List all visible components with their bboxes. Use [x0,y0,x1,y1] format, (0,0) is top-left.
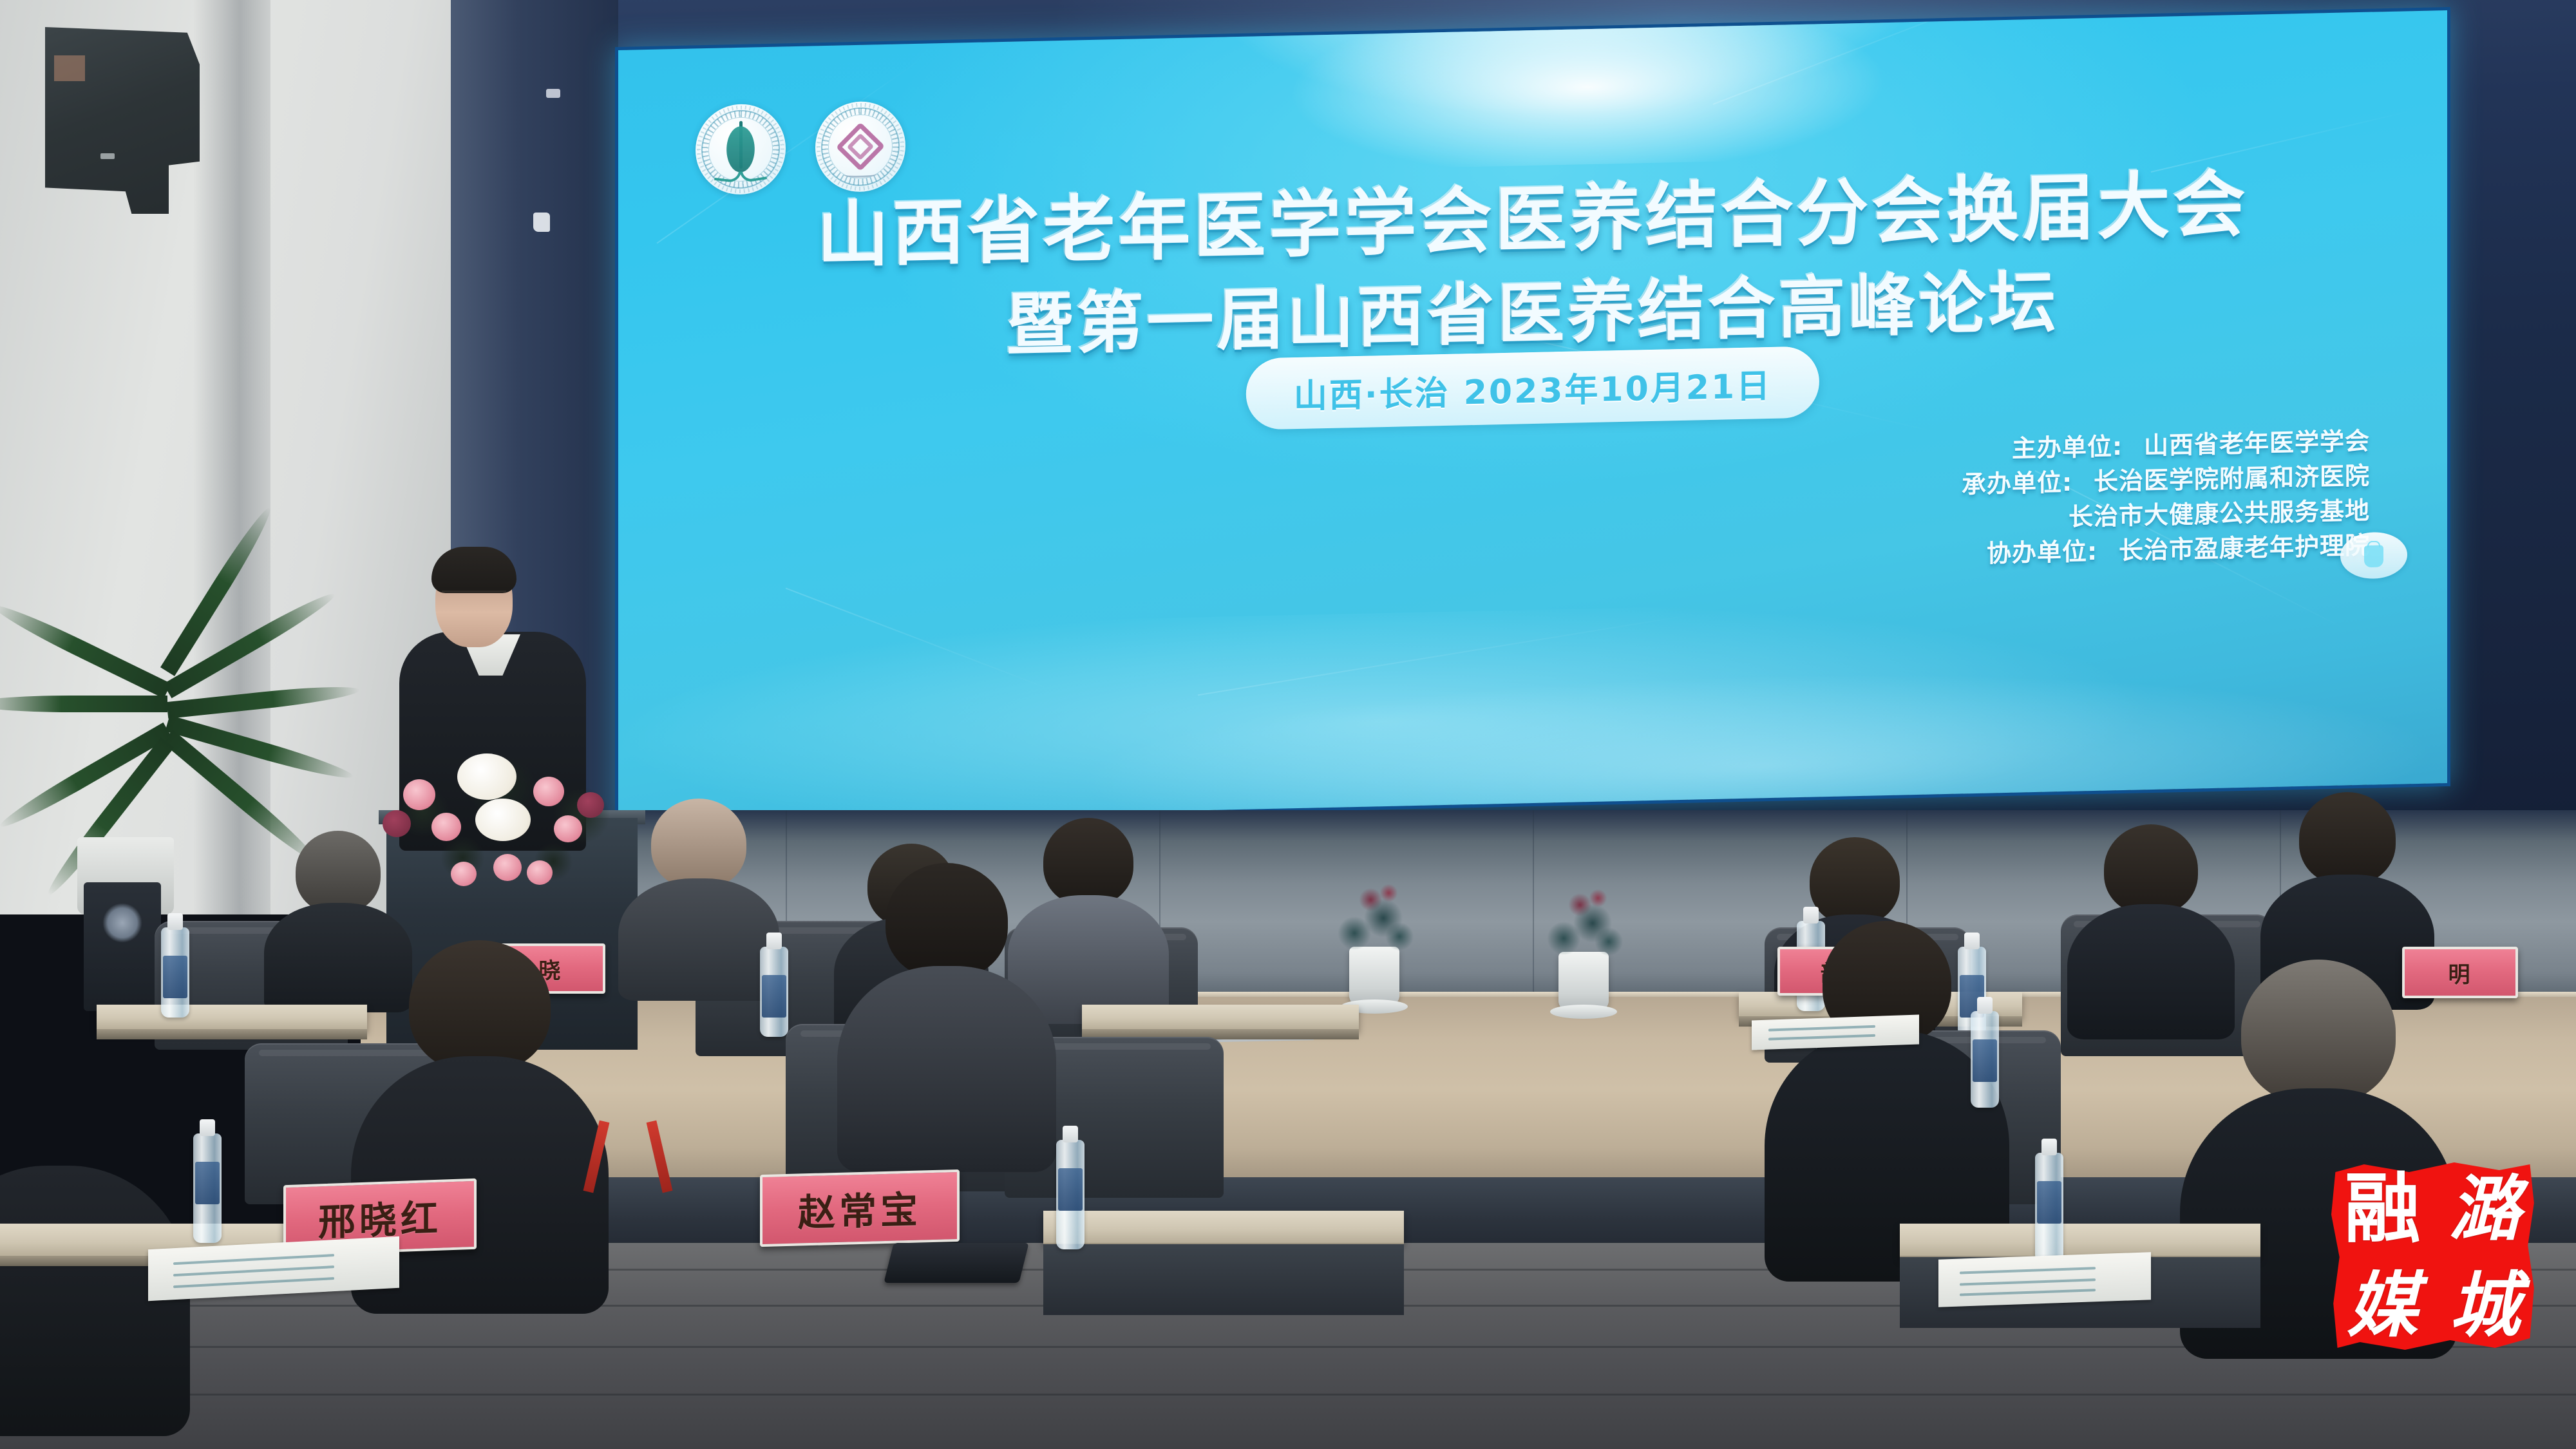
water-bottle [2035,1153,2063,1262]
organizer-label: 主办单位: [2012,429,2144,466]
handout-papers [1938,1252,2151,1307]
audience-person [277,831,399,998]
water-bottle [193,1133,222,1243]
lanyard [580,1121,676,1198]
organizer-value: 长治医学院附属和济医院 [2094,459,2370,500]
organizer-label [1937,526,2069,528]
audience-desk-front [1043,1244,1404,1315]
audience-person [863,863,1030,1133]
nameplate-text: 赵常宝 [798,1179,922,1236]
audience-person [1024,818,1153,1005]
seal-char: 融 [2344,1171,2420,1247]
seal-char: 媒 [2347,1270,2418,1341]
audience-person [2087,824,2215,1018]
screen-badge-icon [2340,531,2407,579]
changzhi-medical-college-heji-hospital-emblem [815,100,905,193]
audience-person [2280,792,2415,985]
seal-char: 城 [2450,1270,2521,1341]
rongmei-lucheng-watermark-seal: 融 潞 媒 城 [2331,1160,2536,1354]
handout-papers [1752,1014,1919,1050]
water-bottle [161,927,189,1018]
water-bottle [760,947,788,1037]
audience-desk [1043,1211,1404,1244]
decor-vase [84,882,161,1011]
organizer-label: 协办单位: [1987,534,2119,571]
nameplate-zhao-changbao: 赵常宝 [760,1170,960,1247]
organizer-label: 承办单位: [1962,465,2094,502]
shanxi-geriatrics-society-emblem [696,103,786,195]
audience-desk [1900,1224,2260,1257]
organizer-value: 山西省老年医学学会 [2144,424,2370,464]
stage-potted-plant [1558,952,1609,1011]
led-screen: 山西省老年医学学会医养结合分会换届大会 暨第一届山西省医养结合高峰论坛 山西·长… [618,10,2447,823]
screen-title-block: 山西省老年医学学会医养结合分会换届大会 暨第一届山西省医养结合高峰论坛 [618,162,2447,369]
water-bottle [1971,1011,1999,1108]
conference-hall-photo: 山西省老年医学学会医养结合分会换届大会 暨第一届山西省医养结合高峰论坛 山西·长… [0,0,2576,1449]
water-bottle [1056,1140,1084,1249]
seal-char: 潞 [2450,1173,2521,1244]
screen-date-text: 山西·长治 2023年10月21日 [1294,367,1772,416]
audience-person [1797,921,1977,1243]
screen-logo-row [696,100,905,195]
podium-flower-arrangement [361,696,644,889]
stage-potted-plant [1349,947,1399,1006]
organizer-value: 长治市盈康老年护理院 [2119,529,2370,569]
screen-organizer-block: 主办单位: 山西省老年医学学会 承办单位: 长治医学院附属和济医院 长治市大健康… [1937,424,2370,573]
audience-desk [1082,1005,1359,1030]
nameplate-text: 明 [2448,957,2472,989]
tablet-device [884,1243,1028,1283]
audience-desk [97,1005,367,1030]
screen-date-pill: 山西·长治 2023年10月21日 [1246,346,1819,430]
audience-person [634,799,763,985]
